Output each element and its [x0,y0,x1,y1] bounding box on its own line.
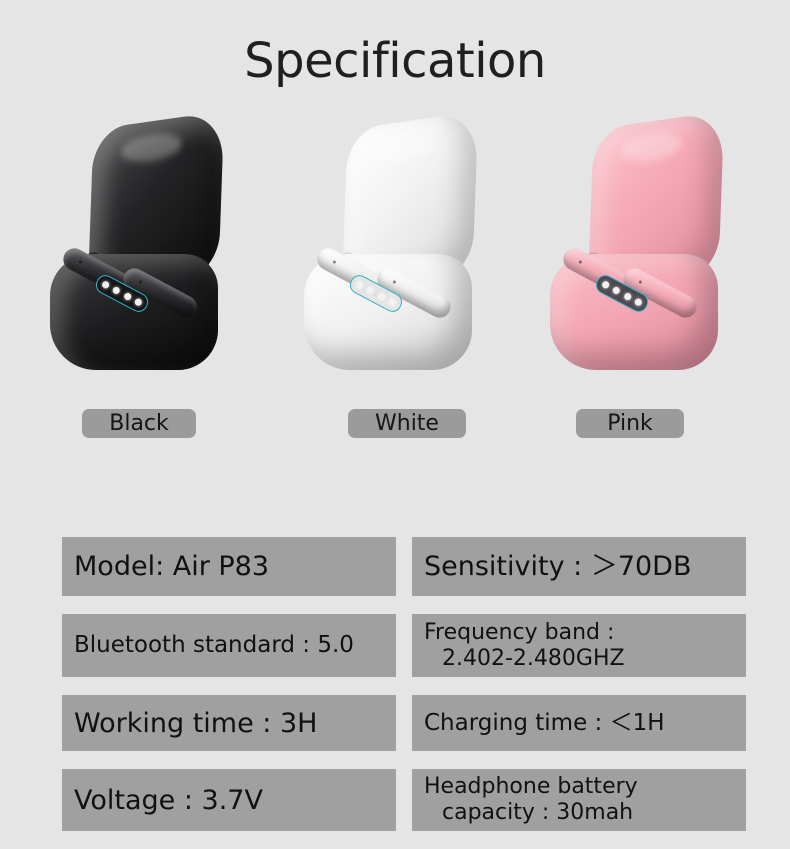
color-label-white: White [348,409,466,438]
spec-cell-working-time: Working time : 3H [62,695,396,751]
spec-text-line-2: capacity : 30mah [424,800,752,826]
spec-row: Bluetooth standard : 5.0 Frequency band … [62,614,746,677]
spec-text-line-2: 2.402-2.480GHZ [424,646,752,672]
spec-row: Voltage : 3.7V Headphone batterycapacity… [62,769,746,831]
spec-text-line-1: Frequency band : [424,620,734,646]
spec-cell-headphone-battery-capacity: Headphone batterycapacity : 30mah [412,769,746,831]
product-variant-white[interactable]: White [282,126,522,446]
color-label-black: Black [82,409,196,438]
led-dot [101,280,110,289]
charging-case-pink-image [528,126,768,386]
led-dot [366,286,375,295]
spec-row: Model: Air P83 Sensitivity : ＞70DB [62,537,746,596]
led-dot [387,297,396,306]
spec-cell-model: Model: Air P83 [62,537,396,596]
charging-case-white-image [282,126,522,386]
spec-row: Working time : 3H Charging time : ＜1H [62,695,746,751]
spec-text-lines: Frequency band :2.402-2.480GHZ [424,620,734,672]
spec-text-lines: Headphone batterycapacity : 30mah [424,774,734,826]
charging-case-black-image [28,126,268,386]
led-dot [633,297,642,306]
spec-cell-frequency-band: Frequency band :2.402-2.480GHZ [412,614,746,677]
product-variant-pink[interactable]: Pink [528,126,768,446]
led-dot [112,286,121,295]
spec-text-line-1: Headphone battery [424,774,734,800]
spec-text: Charging time : ＜1H [424,710,734,737]
product-variant-black[interactable]: Black [28,126,268,446]
spec-cell-bluetooth-standard: Bluetooth standard : 5.0 [62,614,396,677]
led-dot [612,286,621,295]
spec-text: Bluetooth standard : 5.0 [74,632,384,659]
specification-table: Model: Air P83 Sensitivity : ＞70DB Bluet… [62,537,746,849]
spec-cell-voltage: Voltage : 3.7V [62,769,396,831]
product-gallery: Black White [0,126,790,446]
spec-text: Sensitivity : ＞70DB [424,551,734,582]
led-dot [377,292,386,301]
led-dot [123,292,132,301]
led-dot [601,280,610,289]
color-label-text: Pink [607,411,653,436]
led-dot [133,297,142,306]
led-dot [355,280,364,289]
led-dot [623,292,632,301]
spec-text: Voltage : 3.7V [74,785,384,816]
page-title: Specification [0,32,790,90]
color-label-text: White [375,411,439,436]
spec-text: Working time : 3H [74,708,384,739]
spec-text: Model: Air P83 [74,551,384,582]
spec-cell-sensitivity: Sensitivity : ＞70DB [412,537,746,596]
color-label-text: Black [109,411,169,436]
color-label-pink: Pink [576,409,684,438]
spec-cell-charging-time: Charging time : ＜1H [412,695,746,751]
